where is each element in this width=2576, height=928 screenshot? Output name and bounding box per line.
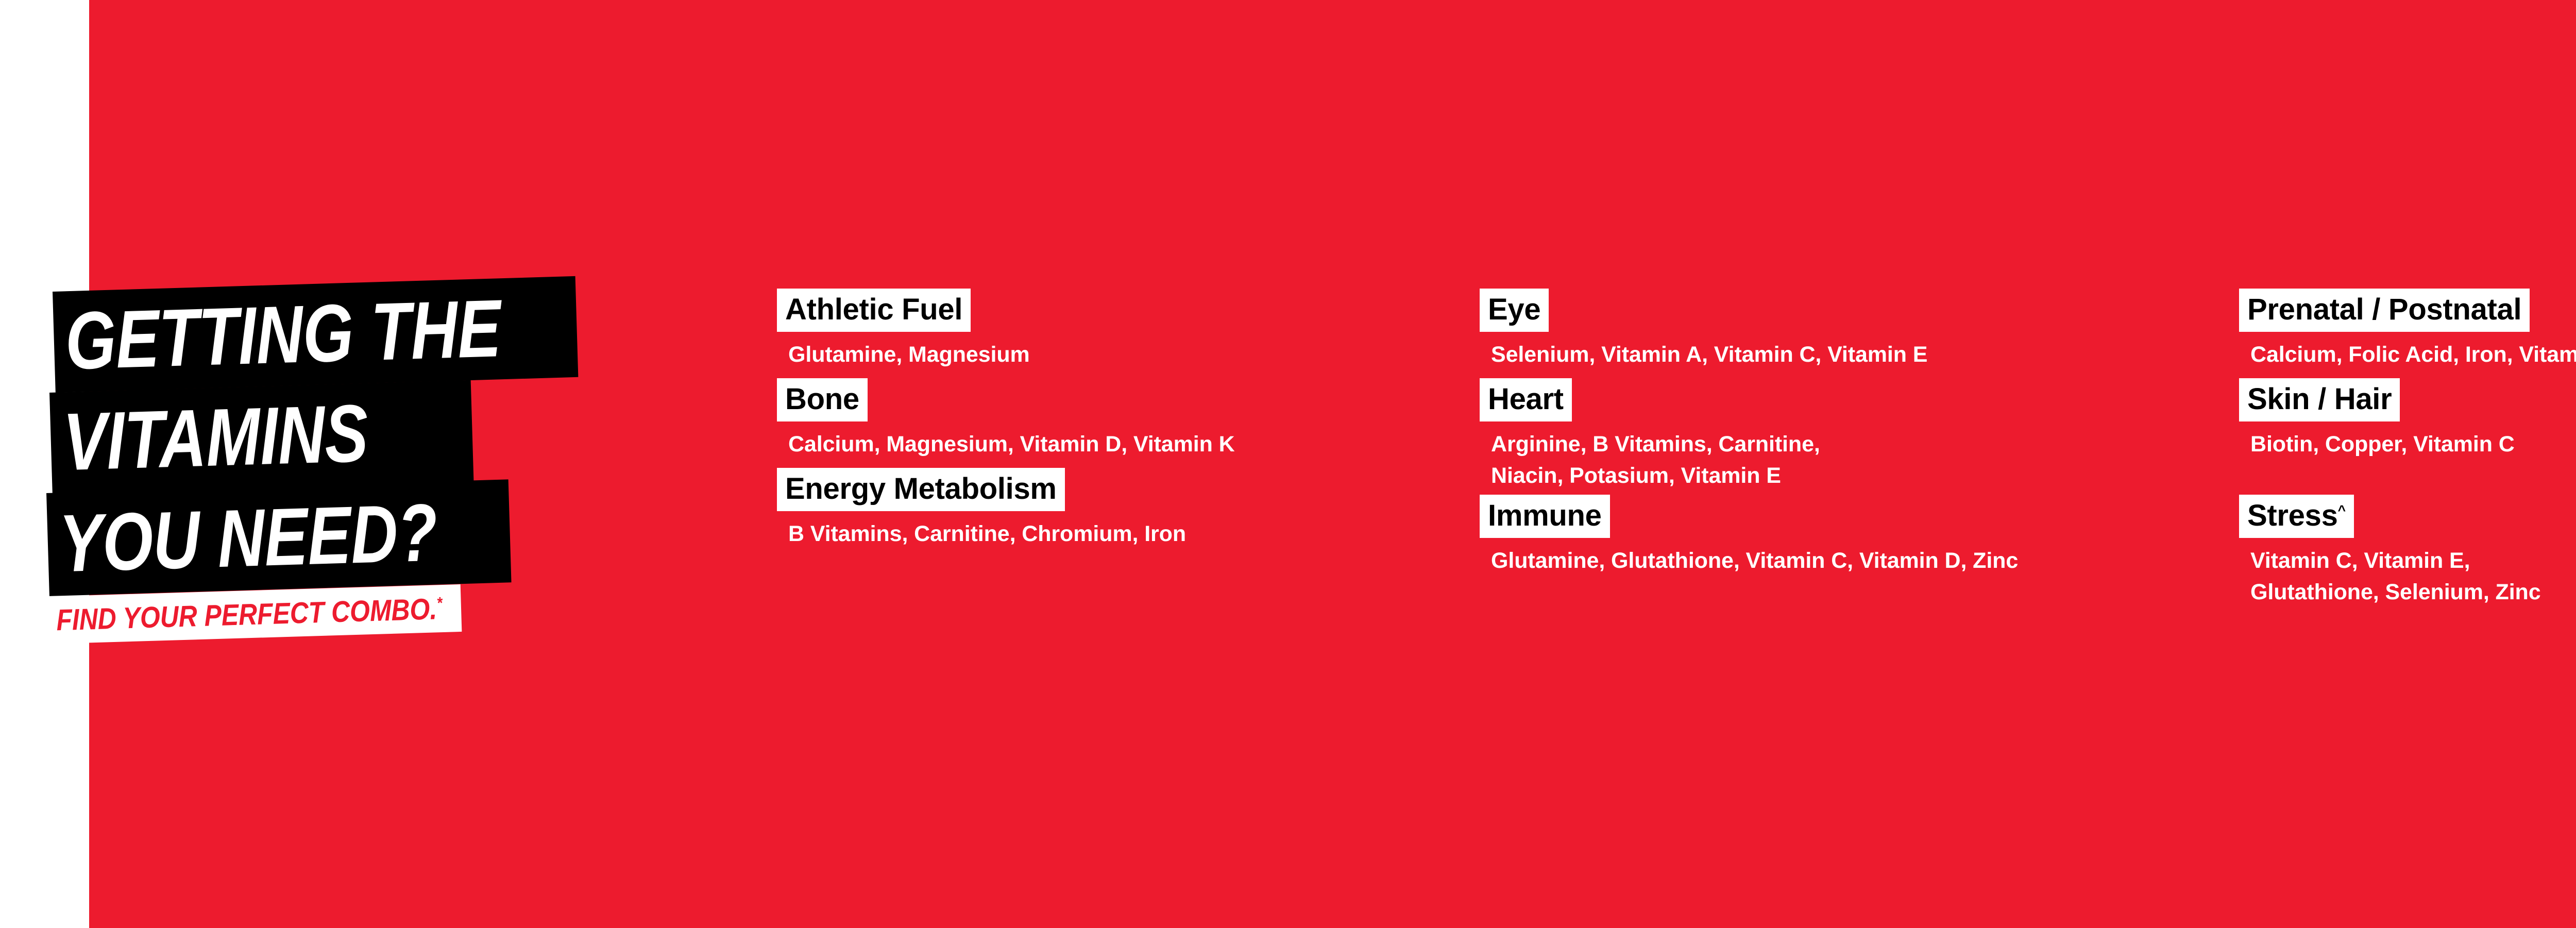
headline-bar-line-3: YOU NEED? <box>46 479 512 596</box>
category-group: Stress^Vitamin C, Vitamin E, Glutathione… <box>2239 495 2541 608</box>
category-ingredient-list: B Vitamins, Carnitine, Chromium, Iron <box>788 518 1186 550</box>
category-title-label: Prenatal / Postnatal <box>2247 293 2521 326</box>
tagline-text: FIND YOUR PERFECT COMBO.* <box>56 592 443 637</box>
category-title-chip[interactable]: Prenatal / Postnatal <box>2239 289 2530 332</box>
category-title-chip[interactable]: Athletic Fuel <box>777 289 971 332</box>
category-group: Skin / HairBiotin, Copper, Vitamin C <box>2239 378 2515 460</box>
headline-text-line-1: GETTING THE <box>64 292 502 379</box>
category-title-chip[interactable]: Bone <box>777 378 868 421</box>
category-group: HeartArginine, B Vitamins, Carnitine, Ni… <box>1480 378 1820 492</box>
category-title-label: Skin / Hair <box>2247 382 2392 416</box>
headline-bar-line-1: GETTING THE <box>53 276 578 393</box>
category-ingredient-list: Vitamin C, Vitamin E, Glutathione, Selen… <box>2250 545 2541 608</box>
category-title-chip[interactable]: Heart <box>1480 378 1572 421</box>
category-group: BoneCalcium, Magnesium, Vitamin D, Vitam… <box>777 378 1235 460</box>
tagline-label: FIND YOUR PERFECT COMBO. <box>56 592 437 637</box>
category-ingredient-list: Arginine, B Vitamins, Carnitine, Niacin,… <box>1491 429 1820 492</box>
tagline-asterisk: * <box>436 593 443 612</box>
category-ingredient-list: Selenium, Vitamin A, Vitamin C, Vitamin … <box>1491 339 1927 370</box>
category-ingredient-list: Glutamine, Magnesium <box>788 339 1030 370</box>
category-title-superscript: ^ <box>2338 503 2346 518</box>
category-group: Energy MetabolismB Vitamins, Carnitine, … <box>777 468 1186 550</box>
category-title-label: Energy Metabolism <box>785 472 1057 505</box>
category-ingredient-list: Glutamine, Glutathione, Vitamin C, Vitam… <box>1491 545 2018 577</box>
headline-text-line-3: YOU NEED? <box>58 496 438 582</box>
category-group: EyeSelenium, Vitamin A, Vitamin C, Vitam… <box>1480 289 1927 370</box>
category-group: Prenatal / PostnatalCalcium, Folic Acid,… <box>2239 289 2576 370</box>
category-title-chip[interactable]: Energy Metabolism <box>777 468 1065 511</box>
headline-text-line-2: VITAMINS <box>62 396 369 480</box>
category-title-chip[interactable]: Skin / Hair <box>2239 378 2400 421</box>
headline-bar-line-2: VITAMINS <box>49 380 473 494</box>
category-ingredient-list: Calcium, Magnesium, Vitamin D, Vitamin K <box>788 429 1235 460</box>
category-title-chip[interactable]: Eye <box>1480 289 1549 332</box>
category-title-label: Athletic Fuel <box>785 293 962 326</box>
category-title-label: Bone <box>785 382 859 416</box>
category-group: Athletic FuelGlutamine, Magnesium <box>777 289 1030 370</box>
category-ingredient-list: Biotin, Copper, Vitamin C <box>2250 429 2515 460</box>
category-title-label: Immune <box>1488 499 1602 532</box>
category-title-label: Stress <box>2247 499 2338 532</box>
category-title-chip[interactable]: Immune <box>1480 495 1610 538</box>
category-title-chip[interactable]: Stress^ <box>2239 495 2354 538</box>
category-group: ImmuneGlutamine, Glutathione, Vitamin C,… <box>1480 495 2018 577</box>
category-title-label: Heart <box>1488 382 1564 416</box>
category-ingredient-list: Calcium, Folic Acid, Iron, Vitamin D <box>2250 339 2576 370</box>
hero-headline-lockup: GETTING THE VITAMINS YOU NEED? FIND YOUR… <box>0 278 608 685</box>
category-title-label: Eye <box>1488 293 1540 326</box>
